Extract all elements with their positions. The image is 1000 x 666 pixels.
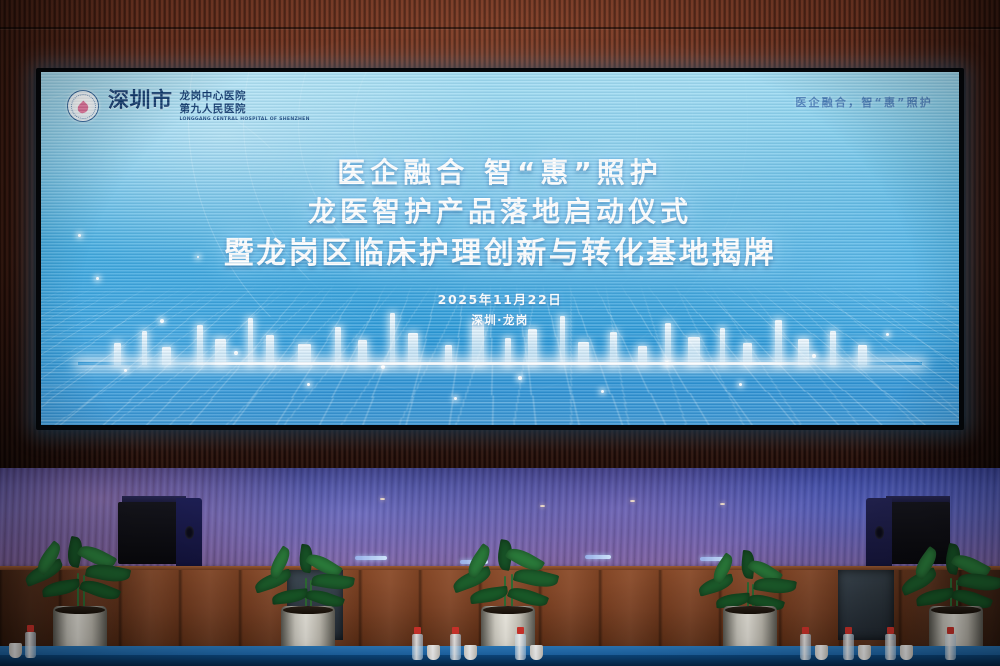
paper-cup (815, 645, 828, 660)
paper-cup (900, 645, 913, 660)
table-beverage-group (0, 0, 1000, 666)
paper-cup (858, 645, 871, 660)
paper-cup (427, 645, 440, 660)
paper-cup (9, 643, 22, 658)
paper-cup (464, 645, 477, 660)
paper-cup (530, 645, 543, 660)
event-hall-scene: 深圳市 龙岗中心医院 第九人民医院 LONGGANG CENTRAL HOSPI… (0, 0, 1000, 666)
